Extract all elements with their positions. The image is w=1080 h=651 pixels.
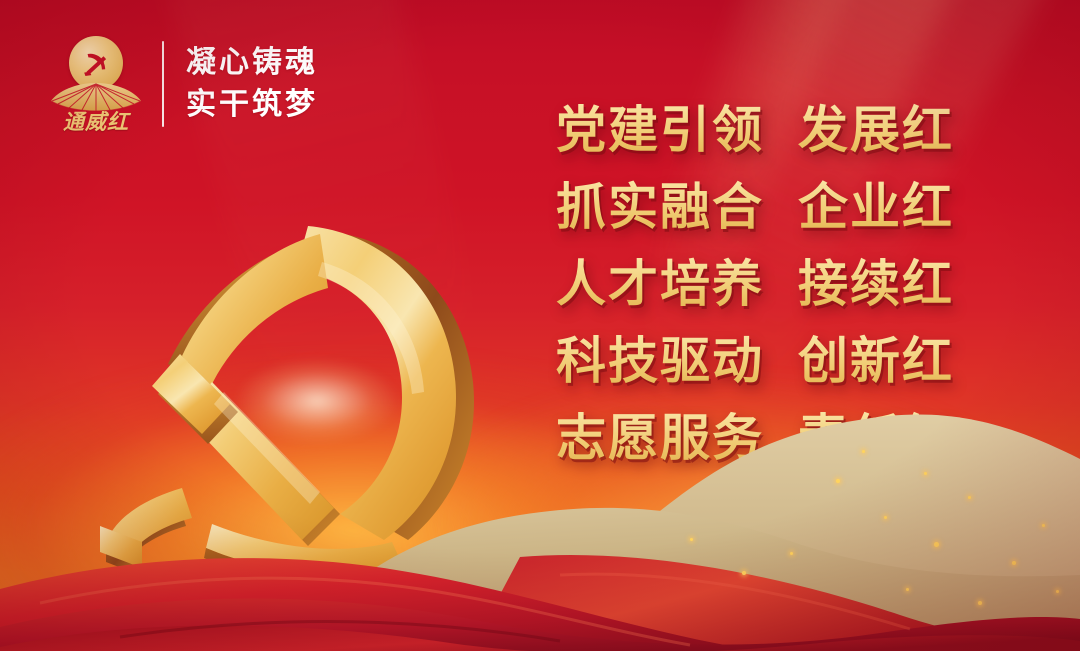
- vignette-overlay: [0, 0, 1080, 651]
- poster-canvas: 通威红 凝心铸魂 实干筑梦: [0, 0, 1080, 651]
